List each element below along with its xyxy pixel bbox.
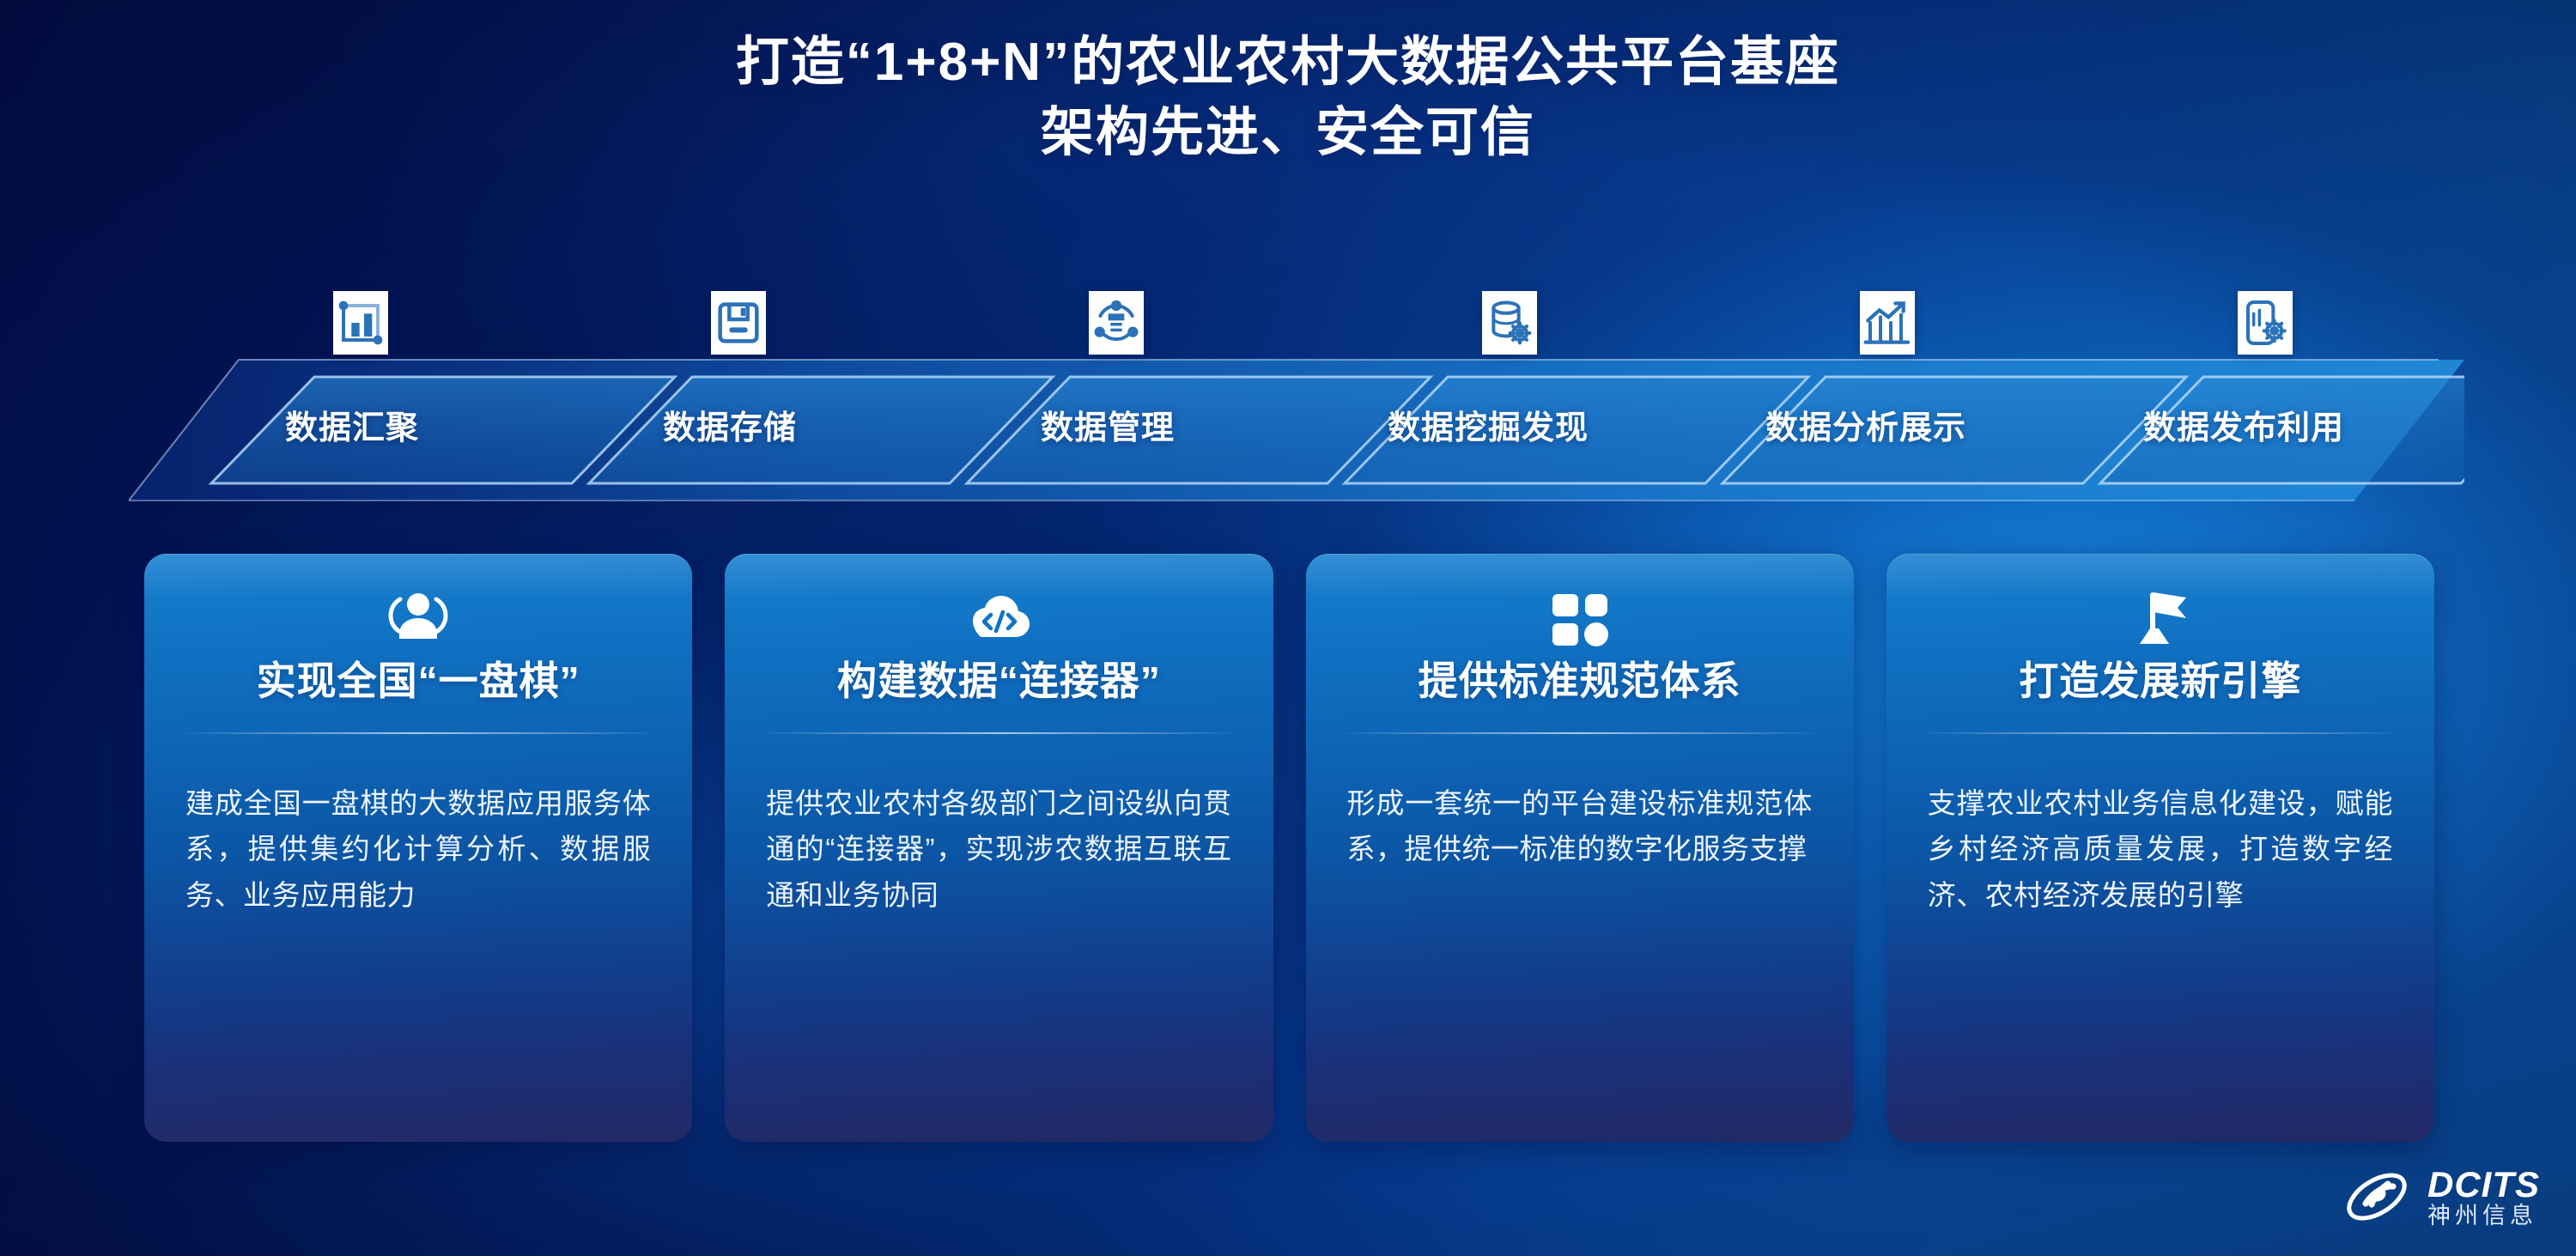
feature-card-body-4: 支撑农业农村业务信息化建设，赋能乡村经济高质量发展，打造数字经济、农村经济发展的… (1928, 780, 2393, 918)
card-divider (1928, 732, 2393, 734)
ribbon-segment-label-3: 数据管理 (1041, 401, 1175, 448)
network-document-icon (1089, 291, 1144, 355)
logo-name-en: DCITS (2427, 1167, 2540, 1203)
feature-card-3[interactable]: 提供标准规范体系 形成一套统一的平台建设标准规范体系，提供统一标准的数字化服务支… (1306, 554, 1854, 1142)
logo-name-cn: 神州信息 (2427, 1204, 2540, 1228)
device-gear-icon (2238, 291, 2293, 355)
feature-card-body-1: 建成全国一盘棋的大数据应用服务体系，提供集约化计算分析、数据服务、业务应用能力 (185, 780, 651, 918)
ribbon-segment-label-6: 数据发布利用 (2143, 401, 2344, 448)
floppy-disk-icon (711, 291, 766, 355)
feature-cards-row: 实现全国“一盘棋” 建成全国一盘棋的大数据应用服务体系，提供集约化计算分析、数据… (144, 554, 2434, 1142)
feature-card-1[interactable]: 实现全国“一盘棋” 建成全国一盘棋的大数据应用服务体系，提供集约化计算分析、数据… (144, 554, 692, 1142)
users-group-icon (370, 554, 466, 636)
feature-card-4[interactable]: 打造发展新引擎 支撑农业农村业务信息化建设，赋能乡村经济高质量发展，打造数字经济… (1886, 554, 2434, 1142)
flag-mountain-icon (2112, 554, 2208, 636)
ribbon-segment-label-1: 数据汇聚 (285, 401, 419, 448)
logo-text: DCITS 神州信息 (2427, 1167, 2540, 1228)
ribbon-segment-label-5: 数据分析展示 (1765, 401, 1966, 448)
page-title-line-1: 打造“1+8+N”的农业农村大数据公共平台基座 (0, 27, 2576, 98)
card-divider (185, 732, 651, 734)
ribbon-segment-label-4: 数据挖掘发现 (1388, 401, 1589, 448)
page-title-line-2: 架构先进、安全可信 (0, 98, 2576, 168)
feature-card-title-1: 实现全国“一盘棋” (185, 650, 651, 707)
grid-blocks-icon (1532, 554, 1628, 636)
chart-trend-up-icon (1860, 291, 1915, 355)
cloud-code-icon (951, 554, 1047, 636)
feature-card-2[interactable]: 构建数据“连接器” 提供农业农村各级部门之间设纵向贯通的“连接器”，实现涉农数据… (725, 554, 1273, 1142)
card-divider (1347, 732, 1813, 734)
feature-card-title-4: 打造发展新引擎 (1928, 650, 2393, 707)
ribbon-shapes (129, 339, 2464, 511)
dcits-swirl-logo-icon (2340, 1163, 2414, 1230)
feature-card-body-3: 形成一套统一的平台建设标准规范体系，提供统一标准的数字化服务支撑 (1347, 780, 1813, 872)
page-title: 打造“1+8+N”的农业农村大数据公共平台基座 架构先进、安全可信 (0, 27, 2576, 168)
feature-card-title-2: 构建数据“连接器” (766, 650, 1231, 707)
data-lifecycle-ribbon: 数据汇聚 数据存储 数据管理 (129, 339, 2464, 511)
card-divider (766, 732, 1231, 734)
bar-chart-node-icon (333, 291, 388, 355)
feature-card-title-3: 提供标准规范体系 (1347, 650, 1813, 707)
feature-card-body-2: 提供农业农村各级部门之间设纵向贯通的“连接器”，实现涉农数据互联互通和业务协同 (766, 780, 1231, 918)
ribbon-segment-label-2: 数据存储 (663, 401, 797, 448)
database-gear-icon (1482, 291, 1537, 355)
company-logo: DCITS 神州信息 (2340, 1163, 2540, 1230)
